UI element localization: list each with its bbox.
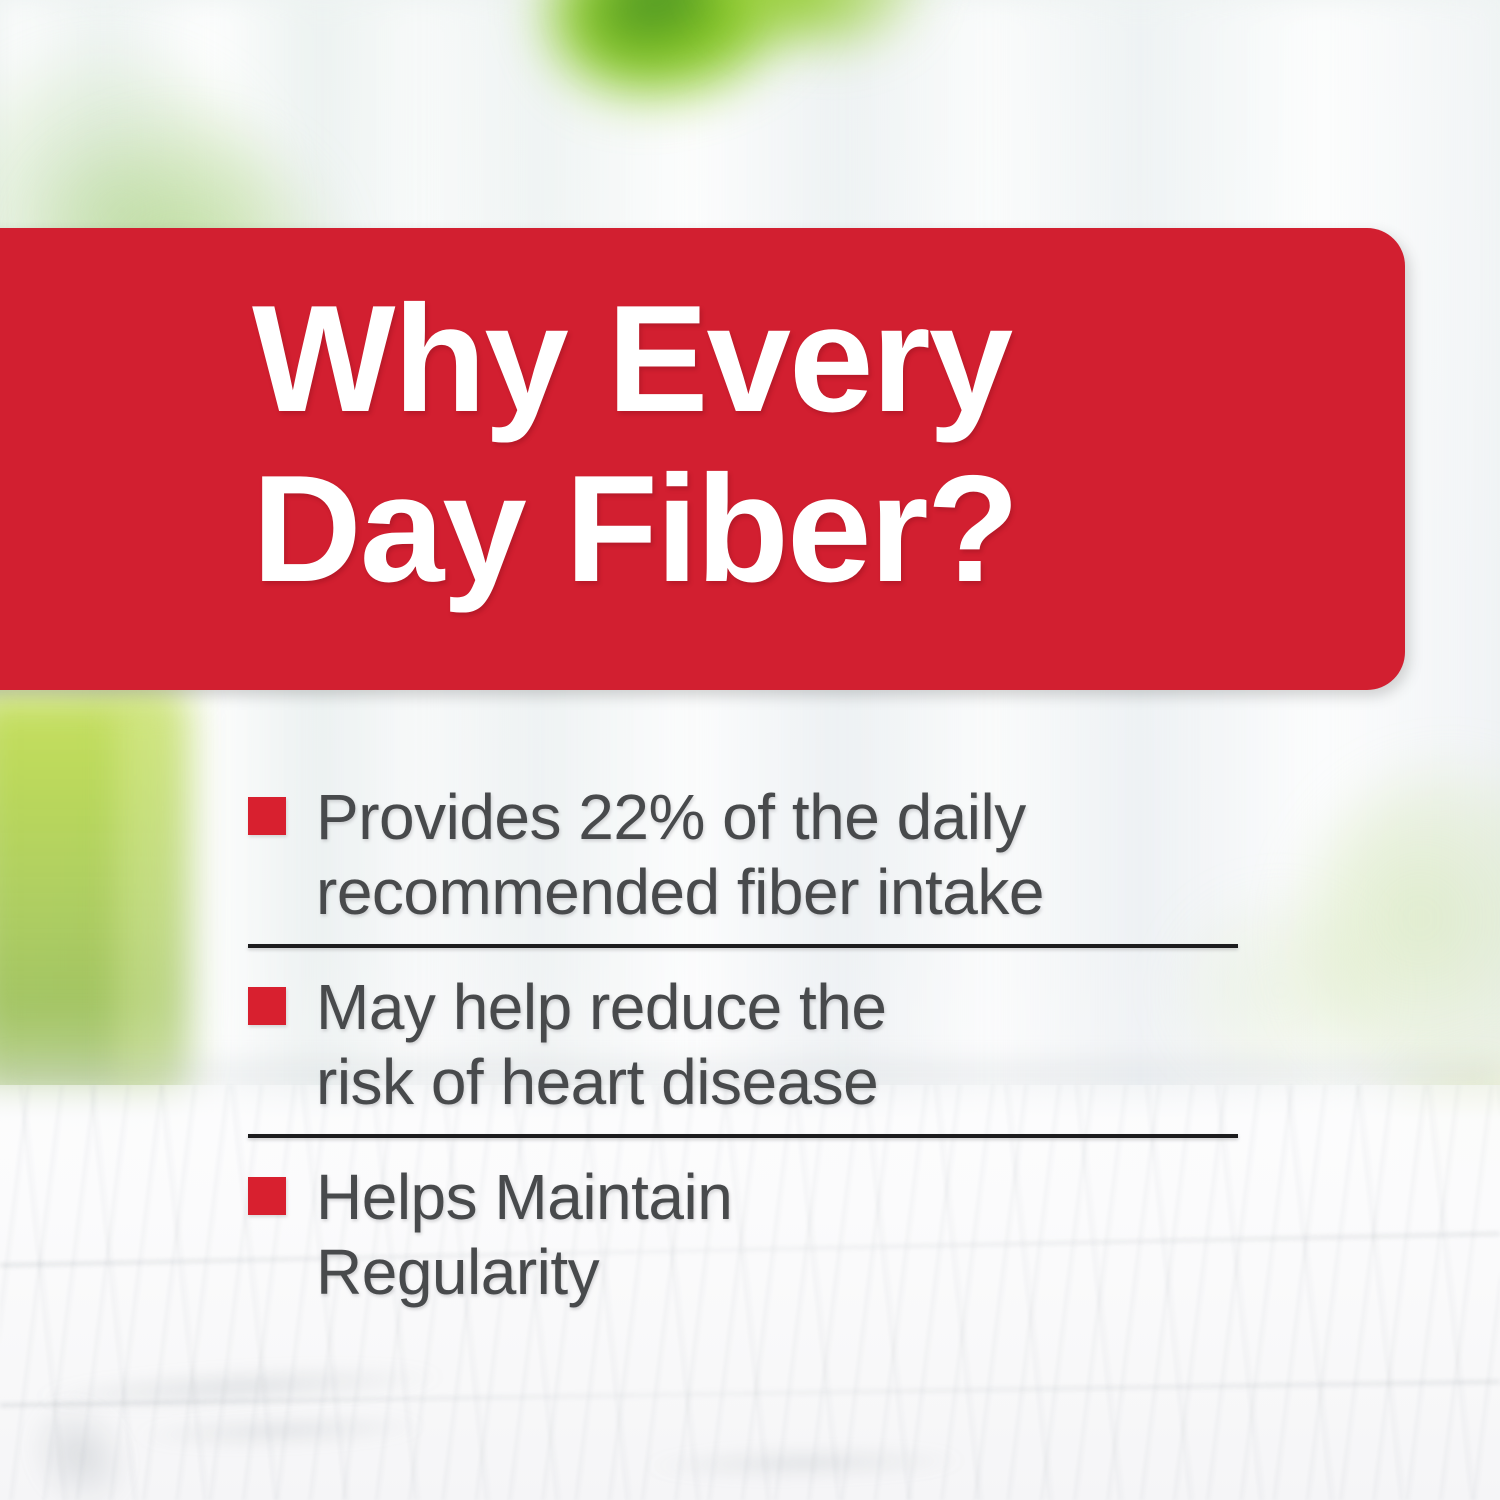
list-item: Helps Maintain Regularity xyxy=(248,1160,1248,1310)
benefit-text: Provides 22% of the daily recommended fi… xyxy=(316,780,1044,930)
benefit-text: Helps Maintain Regularity xyxy=(316,1160,732,1310)
list-divider-1 xyxy=(248,944,1238,948)
red-square-bullet-icon xyxy=(248,797,286,835)
green-drink-glass-highlight xyxy=(120,700,190,1100)
product-benefits-poster: Why Every Day Fiber? Provides 22% of the… xyxy=(0,0,1500,1500)
page-title: Why Every Day Fiber? xyxy=(252,274,1018,614)
benefit-text: May help reduce the risk of heart diseas… xyxy=(316,970,886,1120)
red-square-bullet-icon xyxy=(248,1177,286,1215)
benefits-list: Provides 22% of the daily recommended fi… xyxy=(248,780,1248,1310)
headline-banner: Why Every Day Fiber? xyxy=(0,228,1405,690)
list-item: May help reduce the risk of heart diseas… xyxy=(248,970,1248,1120)
list-item: Provides 22% of the daily recommended fi… xyxy=(248,780,1248,930)
list-divider-2 xyxy=(248,1134,1238,1138)
red-square-bullet-icon xyxy=(248,987,286,1025)
